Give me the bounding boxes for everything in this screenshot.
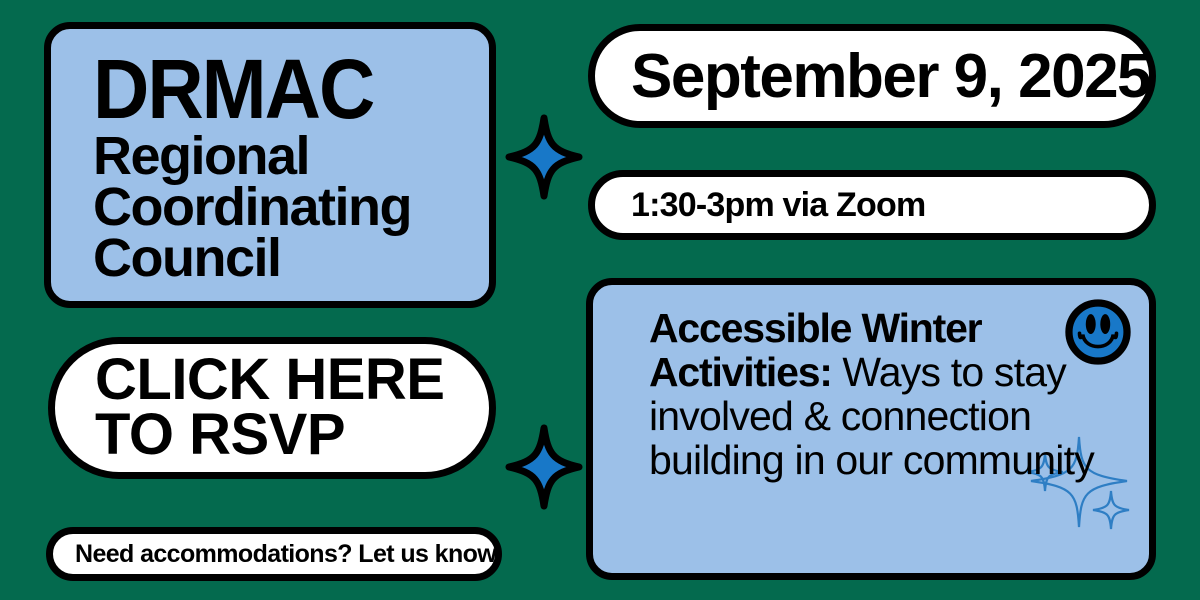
event-topic-text: Accessible Winter Activities: Ways to st… <box>649 307 1131 482</box>
organization-name-line-2: Coordinating <box>93 182 411 233</box>
smiley-face-icon <box>1065 299 1131 365</box>
four-point-star-icon <box>505 114 583 200</box>
flyer-canvas: DRMAC Regional Coordinating Council CLIC… <box>0 0 1200 600</box>
event-date-banner: September 9, 2025 <box>588 24 1156 128</box>
event-time-text: 1:30-3pm via Zoom <box>631 186 925 225</box>
event-date-text: September 9, 2025 <box>631 41 1150 112</box>
organization-name: Regional Coordinating Council <box>93 131 411 285</box>
accommodations-request-button[interactable]: Need accommodations? Let us know <box>46 527 502 581</box>
organization-card: DRMAC Regional Coordinating Council <box>44 22 496 308</box>
rsvp-button-label: CLICK HERE TO RSVP <box>95 353 444 462</box>
event-time-banner: 1:30-3pm via Zoom <box>588 170 1156 240</box>
organization-name-line-1: Regional <box>93 131 411 182</box>
rsvp-label-line-1: CLICK HERE <box>95 353 444 408</box>
four-point-star-icon <box>505 424 583 510</box>
event-topic-card: Accessible Winter Activities: Ways to st… <box>586 278 1156 580</box>
organization-acronym: DRMAC <box>93 51 373 128</box>
organization-name-line-3: Council <box>93 233 411 284</box>
accommodations-label: Need accommodations? Let us know <box>75 540 496 569</box>
rsvp-button[interactable]: CLICK HERE TO RSVP <box>48 337 496 479</box>
rsvp-label-line-2: TO RSVP <box>95 408 444 463</box>
